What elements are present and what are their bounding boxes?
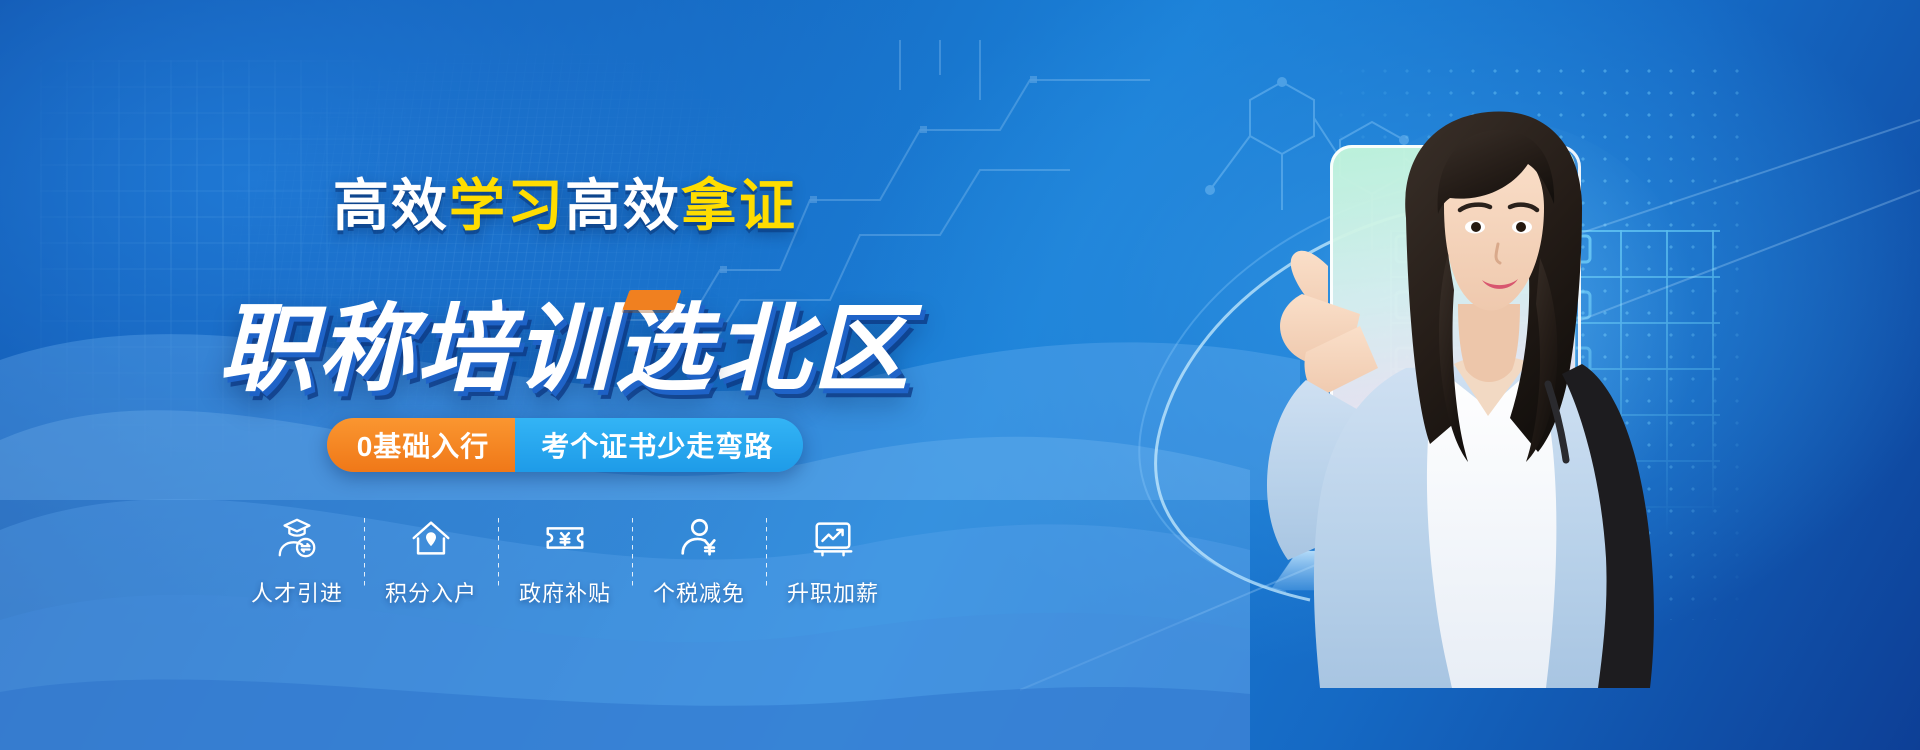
graduate-person-icon [274,512,320,564]
cta-left-label[interactable]: 0基础入行 [327,418,516,472]
ticket-yuan-icon [542,512,588,564]
headline-part-2-accent: 选 [615,302,714,398]
subtitle-segment-1: 高效 [333,174,449,237]
headline-part-3: 北区 [714,296,912,403]
feature-item-points-residency[interactable]: 积分入户 [365,512,498,608]
banner-content: 高效学习高效拿证 职称培训选北区 0基础入行 考个证书少走弯路 [0,0,1130,750]
feature-label: 人才引进 [251,576,343,608]
banner-subtitle: 高效学习高效拿证 [0,178,1130,234]
subtitle-segment-4-highlight: 拿证 [681,174,797,237]
hero-visual [1230,0,1920,750]
feature-label: 积分入户 [385,576,477,608]
cta-badge-inner[interactable]: 0基础入行 考个证书少走弯路 [327,418,804,472]
cta-right-label[interactable]: 考个证书少走弯路 [515,418,803,472]
headline-part-1: 职称培训 [219,296,615,403]
feature-label: 个税减免 [653,576,745,608]
subtitle-segment-3: 高效 [565,174,681,237]
feature-label: 政府补贴 [519,576,611,608]
feature-label: 升职加薪 [787,576,879,608]
home-location-pin-icon [408,512,454,564]
chart-growth-board-icon [810,512,856,564]
feature-item-tax-reduction[interactable]: 个税减免 [633,512,766,608]
feature-item-talent-introduction[interactable]: 人才引进 [231,512,364,608]
feature-item-promotion-raise[interactable]: 升职加薪 [767,512,900,608]
feature-item-government-subsidy[interactable]: 政府补贴 [499,512,632,608]
person-yuan-icon [676,512,722,564]
feature-list: 人才引进 积分入户 [0,512,1130,608]
hero-person-photo [1210,68,1770,688]
banner-headline: 职称培训选北区 [0,302,1130,398]
subtitle-segment-2-highlight: 学习 [449,174,565,237]
cta-badge[interactable]: 0基础入行 考个证书少走弯路 [0,418,1130,472]
promo-banner: 高效学习高效拿证 职称培训选北区 0基础入行 考个证书少走弯路 [0,0,1920,750]
